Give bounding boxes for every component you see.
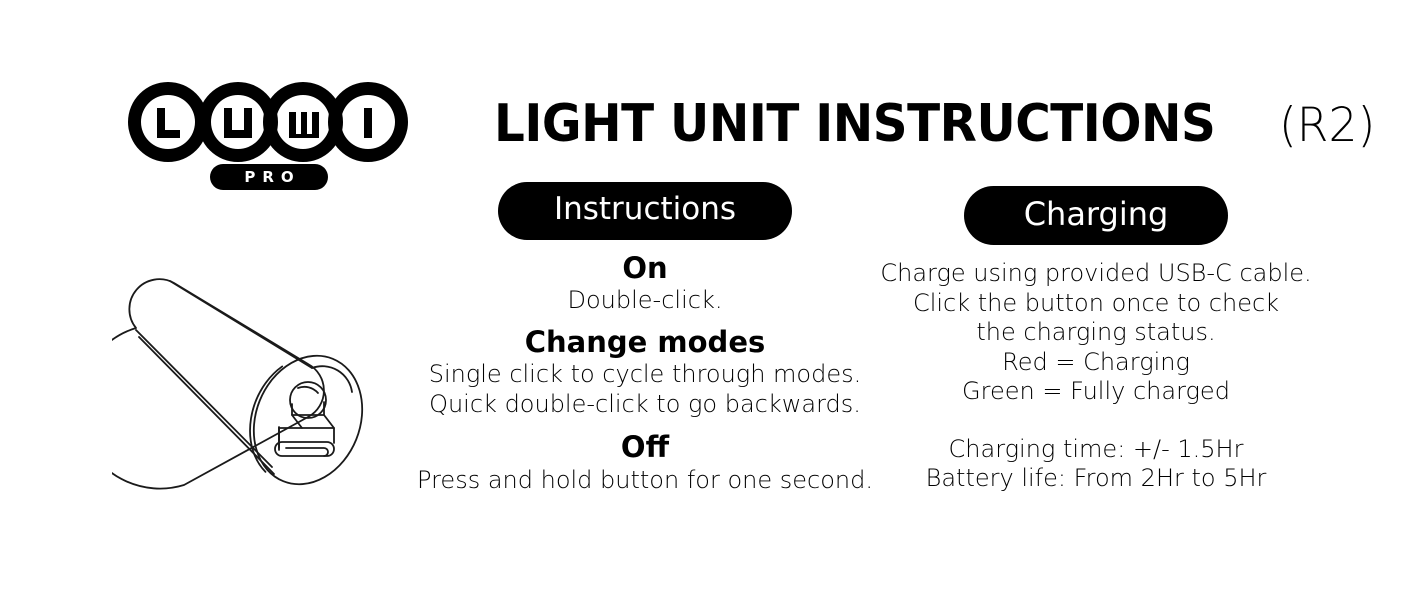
charging-line-3: the charging status.: [846, 318, 1346, 348]
instructions-heading-off: Off: [400, 431, 890, 463]
instructions-off-line-1: Press and hold button for one second.: [400, 466, 890, 496]
charging-spacer: [846, 407, 1346, 433]
charging-status-green: Green = Fully charged: [846, 377, 1346, 407]
brand-logo: PRO: [128, 82, 408, 194]
pro-badge: PRO: [210, 164, 328, 190]
title-revision: (R2): [1279, 102, 1375, 149]
instructions-column: Instructions On Double-click. Change mod…: [400, 182, 890, 495]
instructions-change-modes-line-1: Single click to cycle through modes.: [400, 360, 890, 390]
instruction-sheet: PRO LIGHT UNIT INSTRUCTIONS (R2): [0, 0, 1426, 601]
instructions-on-line-1: Double-click.: [400, 286, 890, 316]
charging-column: Charging Charge using provided USB-C cab…: [846, 186, 1346, 494]
cylindrical-light-unit-line-drawing-icon: [112, 252, 418, 514]
charging-spec-charging-time: Charging time: +/- 1.5Hr: [846, 435, 1346, 465]
title-text: LIGHT UNIT INSTRUCTIONS: [494, 98, 1215, 150]
lumi-roundel-logo-icon: [128, 82, 408, 162]
instructions-change-modes-line-2: Quick double-click to go backwards.: [400, 390, 890, 420]
instructions-section-pill: Instructions: [498, 182, 792, 240]
page-title: LIGHT UNIT INSTRUCTIONS (R2): [494, 98, 1378, 150]
instructions-heading-change-modes: Change modes: [400, 326, 890, 358]
charging-line-1: Charge using provided USB-C cable.: [846, 259, 1346, 289]
charging-status-red: Red = Charging: [846, 348, 1346, 378]
charging-section-pill: Charging: [964, 186, 1229, 245]
charging-line-2: Click the button once to check: [846, 289, 1346, 319]
charging-spec-battery-life: Battery life: From 2Hr to 5Hr: [846, 464, 1346, 494]
instructions-heading-on: On: [400, 252, 890, 284]
